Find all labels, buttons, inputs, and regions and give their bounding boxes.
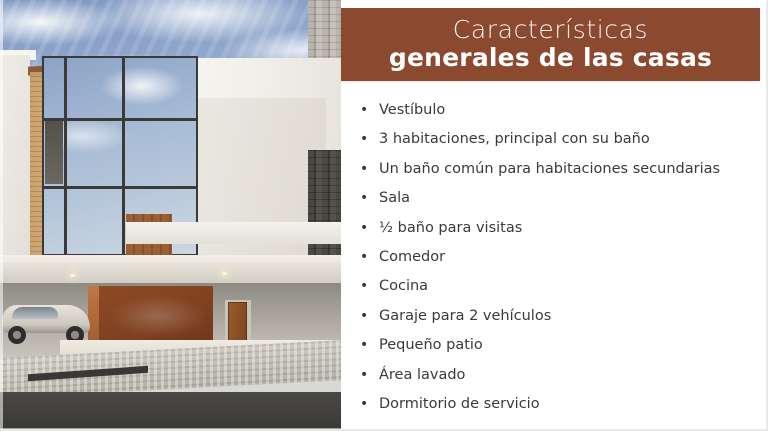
car-window [12, 307, 58, 319]
ceiling-spotlight [70, 274, 75, 277]
list-item: • Área lavado [358, 361, 760, 390]
bullet-icon: • [360, 361, 368, 390]
list-item: • Garaje para 2 vehículos [358, 302, 760, 331]
list-item-label: Un baño común para habitaciones secundar… [379, 161, 720, 177]
list-item-label: Pequeño patio [379, 337, 483, 353]
list-item-label: Cocina [379, 278, 428, 294]
features-list: • Vestíbulo • 3 habitaciones, principal … [358, 96, 760, 419]
bullet-icon: • [360, 331, 368, 360]
ceiling-spotlight [222, 272, 227, 275]
list-item: • 3 habitaciones, principal con su baño [358, 125, 760, 154]
list-item: • Cocina [358, 272, 760, 301]
list-item-label: Dormitorio de servicio [379, 396, 540, 412]
title-banner: Características generales de las casas [341, 8, 760, 81]
list-item: • Un baño común para habitaciones secund… [358, 155, 760, 184]
glass-dark-reflection [45, 121, 63, 184]
bullet-icon: • [360, 302, 368, 331]
list-item-label: Área lavado [379, 367, 465, 383]
list-item: • Vestíbulo [358, 96, 760, 125]
list-item: • Pequeño patio [358, 331, 760, 360]
list-item-label: ½ baño para visitas [379, 220, 522, 236]
list-item-label: 3 habitaciones, principal con su baño [379, 131, 650, 147]
window-mullion-horizontal [42, 186, 198, 189]
bullet-icon: • [360, 390, 368, 419]
bullet-icon: • [360, 155, 368, 184]
bullet-icon: • [360, 214, 368, 243]
window-mullion-horizontal [42, 118, 198, 121]
list-item: • ½ baño para visitas [358, 214, 760, 243]
list-item: • Comedor [358, 243, 760, 272]
list-item: • Sala [358, 184, 760, 213]
content-panel: Características generales de las casas •… [341, 0, 768, 431]
window-mullion-vertical [64, 56, 67, 256]
bullet-icon: • [360, 243, 368, 272]
title-line-1: Características [453, 17, 648, 44]
list-item: • Dormitorio de servicio [358, 390, 760, 419]
title-line-2: generales de las casas [389, 43, 712, 73]
list-item-label: Garaje para 2 vehículos [379, 308, 551, 324]
asphalt-street [0, 392, 341, 431]
car-wheel [8, 326, 26, 344]
list-item-label: Sala [379, 190, 410, 206]
photo-left-edge [0, 0, 3, 431]
window-mullion-vertical [122, 56, 125, 256]
bullet-icon: • [360, 125, 368, 154]
list-item-label: Comedor [379, 249, 445, 265]
list-item-label: Vestíbulo [379, 102, 445, 118]
bullet-icon: • [360, 96, 368, 125]
slide: Características generales de las casas •… [0, 0, 768, 431]
bullet-icon: • [360, 272, 368, 301]
bullet-icon: • [360, 184, 368, 213]
floor-slab-band [126, 222, 341, 244]
carport-soffit-shadow [0, 262, 341, 284]
house-photo [0, 0, 341, 431]
